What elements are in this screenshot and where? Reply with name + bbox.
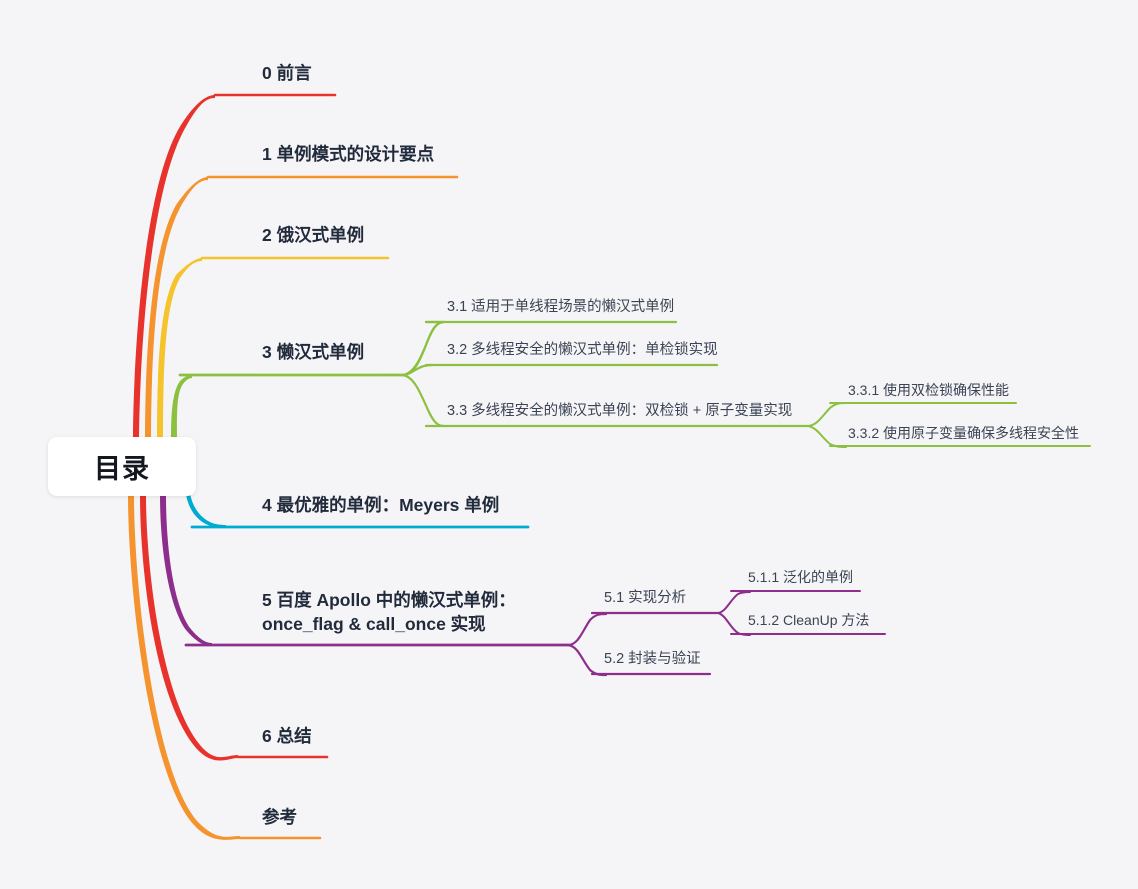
node-b4[interactable]: 4 最优雅的单例：Meyers 单例 [262,494,499,518]
connector-b3-2 [403,365,432,375]
node-b5-1-1[interactable]: 5.1.1 泛化的单例 [748,568,853,587]
connector-b5-1 [568,614,606,645]
connector-b3-1 [403,322,444,375]
node-b5-2[interactable]: 5.2 封装与验证 [604,650,701,670]
node-b5-1[interactable]: 5.1 实现分析 [604,589,686,609]
node-b5-1-2[interactable]: 5.1.2 CleanUp 方法 [748,611,869,630]
connector-b3-3-2 [808,426,846,447]
branch-curve-b7 [128,495,240,840]
connector-b3-1b [403,322,444,375]
node-b6[interactable]: 6 总结 [262,725,312,749]
branch-curve-b2 [157,258,202,447]
node-b2[interactable]: 2 饿汉式单例 [262,224,364,248]
node-b5[interactable]: 5 百度 Apollo 中的懒汉式单例： once_flag & call_on… [262,589,516,636]
node-b7[interactable]: 参考 [262,806,297,830]
node-b3-3-1[interactable]: 3.3.1 使用双检锁确保性能 [848,381,1009,400]
node-b3-3[interactable]: 3.3 多线程安全的懒汉式单例：双检锁 + 原子变量实现 [447,402,792,422]
branch-curve-b0 [133,95,215,447]
node-b3-3-2[interactable]: 3.3.2 使用原子变量确保多线程安全性 [848,424,1079,443]
node-b0[interactable]: 0 前言 [262,62,312,86]
branch-curve-b1 [145,177,208,447]
branch-curve-b5 [160,495,212,646]
connector-b5-1-1 [718,592,750,613]
mindmap-canvas: 目录 0 前言 1 单例模式的设计要点 2 饿汉式单例 3 懒汉式单例 4 最优… [0,0,1138,889]
branch-curve-b6 [140,495,238,761]
connector-b3-3 [403,375,444,426]
root-node[interactable]: 目录 [48,437,196,496]
branch-curve-b4 [186,493,226,528]
connector-b5-2 [568,645,606,675]
node-b1[interactable]: 1 单例模式的设计要点 [262,143,434,167]
root-node-label: 目录 [94,447,150,486]
node-b3[interactable]: 3 懒汉式单例 [262,341,364,365]
connector-b3-3-1 [808,403,846,426]
node-b3-2[interactable]: 3.2 多线程安全的懒汉式单例：单检锁实现 [447,341,718,361]
connector-b5-1-2 [718,613,750,635]
node-b3-1[interactable]: 3.1 适用于单线程场景的懒汉式单例 [447,298,674,318]
